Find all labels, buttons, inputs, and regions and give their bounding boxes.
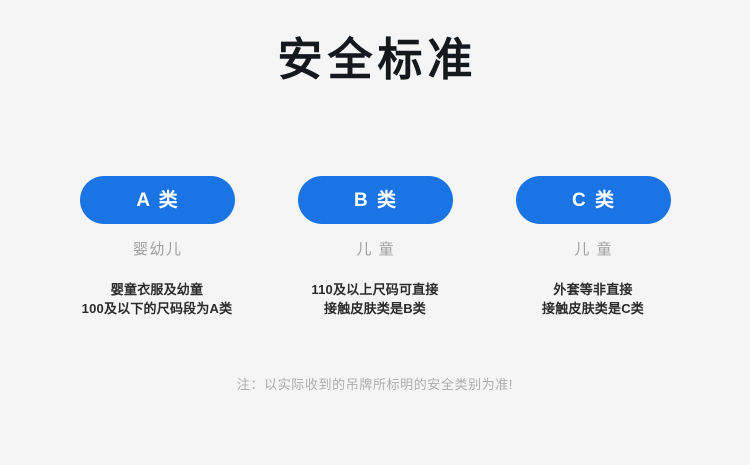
safety-standard-infographic: 安全标准 A 类 婴幼儿 婴童衣服及幼童 100及以下的尺码段为A类 B 类 儿… [0,0,750,465]
category-description-line2-a: 100及以下的尺码段为A类 [82,299,233,318]
category-subtitle-c: 儿 童 [573,240,613,260]
category-pill-a[interactable]: A 类 [80,176,235,224]
category-description-line2-b: 接触皮肤类是B类 [311,299,438,318]
category-description-line1-c: 外套等非直接 [542,280,644,299]
category-subtitle-b: 儿 童 [355,240,395,260]
page-title: 安全标准 [0,30,750,90]
category-card-list: A 类 婴幼儿 婴童衣服及幼童 100及以下的尺码段为A类 B 类 儿 童 11… [0,176,750,318]
category-description-c: 外套等非直接 接触皮肤类是C类 [542,280,644,318]
category-card-a: A 类 婴幼儿 婴童衣服及幼童 100及以下的尺码段为A类 [48,176,266,318]
footnote: 注：以实际收到的吊牌所标明的安全类别为准! [0,375,750,395]
category-card-c: C 类 儿 童 外套等非直接 接触皮肤类是C类 [484,176,702,318]
category-pill-c[interactable]: C 类 [516,176,671,224]
category-pill-label-b: B 类 [352,191,398,210]
category-description-a: 婴童衣服及幼童 100及以下的尺码段为A类 [82,280,233,318]
category-description-line1-b: 110及以上尺码可直接 [311,280,438,299]
category-pill-b[interactable]: B 类 [298,176,453,224]
category-pill-label-a: A 类 [134,191,179,210]
category-description-b: 110及以上尺码可直接 接触皮肤类是B类 [311,280,438,318]
category-pill-label-c: C 类 [570,191,616,210]
category-description-line1-a: 婴童衣服及幼童 [82,280,233,299]
category-description-line2-c: 接触皮肤类是C类 [542,299,644,318]
category-card-b: B 类 儿 童 110及以上尺码可直接 接触皮肤类是B类 [266,176,484,318]
category-subtitle-a: 婴幼儿 [131,240,182,260]
